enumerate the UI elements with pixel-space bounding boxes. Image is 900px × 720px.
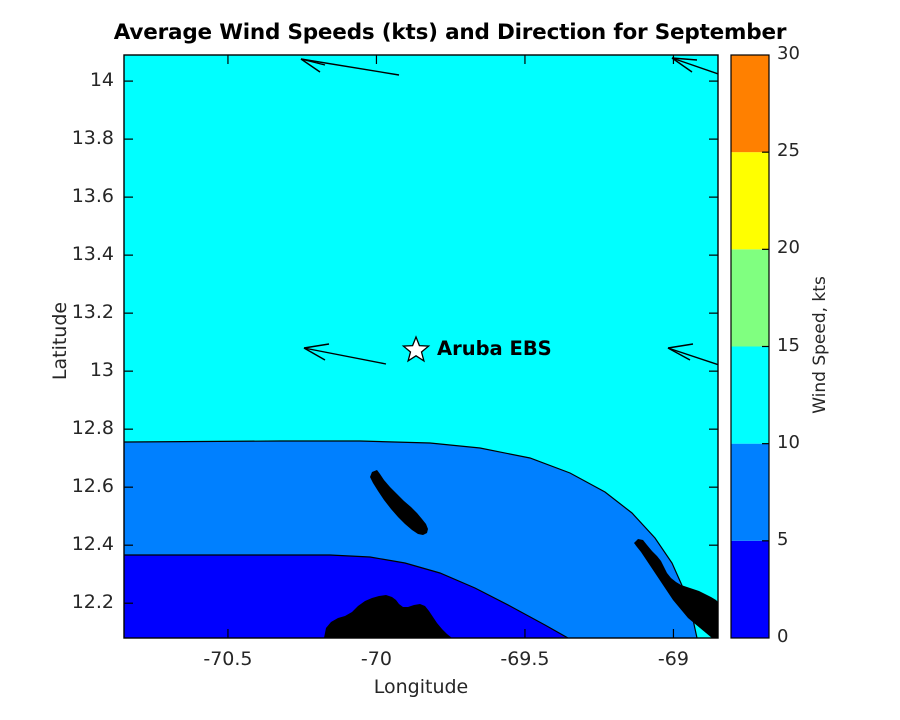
colorbar-band-5-10 bbox=[731, 444, 769, 541]
wind-speed-figure: Average Wind Speeds (kts) and Direction … bbox=[0, 0, 900, 720]
y-tick-label: 13.2 bbox=[30, 301, 114, 323]
aruba-ebs-label: Aruba EBS bbox=[437, 337, 552, 360]
colorbar-band-15-20 bbox=[731, 249, 769, 346]
y-tick-label: 12.4 bbox=[30, 533, 114, 555]
y-tick-label: 12.8 bbox=[30, 417, 114, 439]
colorbar-band-25-30 bbox=[731, 55, 769, 152]
colorbar-tick-label: 15 bbox=[777, 335, 837, 356]
y-tick-label: 14 bbox=[30, 69, 114, 91]
y-tick-label: 13.8 bbox=[30, 127, 114, 149]
y-tick-label: 13.4 bbox=[30, 243, 114, 265]
colorbar-tick-label: 30 bbox=[777, 43, 837, 64]
map-plot-area: Aruba EBS bbox=[0, 0, 900, 720]
colorbar-tick-label: 10 bbox=[777, 432, 837, 453]
y-tick-label: 13 bbox=[30, 359, 114, 381]
colorbar-band-20-25 bbox=[731, 152, 769, 249]
y-tick-label: 12.2 bbox=[30, 591, 114, 613]
colorbar-tick-label: 0 bbox=[777, 626, 837, 647]
colorbar-band-10-15 bbox=[731, 347, 769, 444]
colorbar-band-0-5 bbox=[731, 541, 769, 638]
colorbar-tick-label: 25 bbox=[777, 140, 837, 161]
x-tick-label: -69.5 bbox=[465, 648, 585, 670]
colorbar-tick-label: 20 bbox=[777, 237, 837, 258]
colorbar-tick-label: 5 bbox=[777, 529, 837, 550]
x-tick-label: -70 bbox=[316, 648, 436, 670]
x-tick-label: -69 bbox=[613, 648, 733, 670]
y-tick-label: 12.6 bbox=[30, 475, 114, 497]
x-tick-label: -70.5 bbox=[168, 648, 288, 670]
y-tick-label: 13.6 bbox=[30, 185, 114, 207]
